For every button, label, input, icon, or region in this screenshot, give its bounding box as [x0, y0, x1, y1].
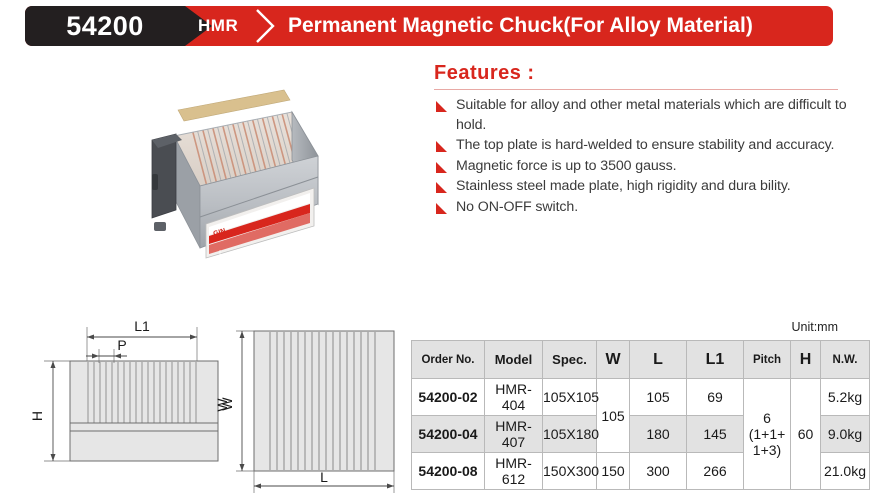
product-code-badge: 54200	[25, 6, 185, 46]
cell-nw: 5.2kg	[821, 379, 870, 416]
cell-l1: 266	[687, 453, 744, 490]
chevron-right-icon	[253, 6, 279, 46]
table-row: 54200-02 HMR-404 105X105 105 105 69 6 (1…	[412, 379, 870, 416]
cell-spec: 150X300	[543, 453, 597, 490]
triangle-bullet-icon	[435, 140, 448, 153]
th-order-no: Order No.	[412, 341, 485, 379]
product-photo: GIN PERMANENT MAGNETIC CHUCK	[132, 78, 324, 278]
spec-table-wrap: Order No. Model Spec. W L L1 Pitch H N.W…	[411, 340, 839, 490]
features-heading: Features :	[434, 62, 838, 90]
feature-item: Magnetic force is up to 3500 gauss.	[434, 157, 854, 177]
th-nw: N.W.	[821, 341, 870, 379]
feature-item: Stainless steel made plate, high rigidit…	[434, 177, 854, 197]
cell-l: 105	[630, 379, 687, 416]
feature-text: Suitable for alloy and other metal mater…	[456, 97, 847, 133]
page-title: Permanent Magnetic Chuck(For Alloy Mater…	[288, 14, 753, 38]
th-model: Model	[485, 341, 543, 379]
th-l: L	[630, 341, 687, 379]
feature-text: Magnetic force is up to 3500 gauss.	[456, 158, 676, 174]
th-w: W	[597, 341, 630, 379]
feature-item: The top plate is hard-welded to ensure s…	[434, 136, 854, 156]
feature-item: Suitable for alloy and other metal mater…	[434, 96, 854, 135]
feature-item: No ON-OFF switch.	[434, 198, 854, 218]
dim-l1-label: L1	[134, 318, 150, 334]
feature-text: No ON-OFF switch.	[456, 199, 578, 215]
dim-h-label: H	[29, 411, 45, 421]
cell-l1: 69	[687, 379, 744, 416]
cell-w: 150	[597, 453, 630, 490]
cell-spec: 105X105	[543, 379, 597, 416]
cell-nw: 21.0kg	[821, 453, 870, 490]
series-label-wrap: HMR	[198, 6, 238, 46]
th-spec: Spec.	[543, 341, 597, 379]
features-list: Suitable for alloy and other metal mater…	[434, 96, 854, 217]
unit-label: Unit:mm	[791, 320, 838, 334]
cell-model: HMR-407	[485, 416, 543, 453]
features-section: Features : Suitable for alloy and other …	[434, 62, 854, 218]
th-l1: L1	[687, 341, 744, 379]
triangle-bullet-icon	[435, 181, 448, 194]
table-header-row: Order No. Model Spec. W L L1 Pitch H N.W…	[412, 341, 870, 379]
th-h: H	[791, 341, 821, 379]
cell-w-merged: 105	[597, 379, 630, 453]
cell-nw: 9.0kg	[821, 416, 870, 453]
catalog-page: 54200 HMR Permanent Magnetic Chuck(For A…	[0, 0, 876, 499]
page-title-wrap: Permanent Magnetic Chuck(For Alloy Mater…	[288, 6, 753, 46]
cell-model: HMR-612	[485, 453, 543, 490]
cell-l: 180	[630, 416, 687, 453]
series-label: HMR	[198, 16, 238, 36]
dim-l-label: L	[320, 469, 328, 485]
pitch-line-2: (1+1+	[744, 426, 790, 442]
pitch-line-1: 6	[744, 410, 790, 426]
triangle-bullet-icon	[435, 100, 448, 113]
cell-order-no: 54200-02	[412, 379, 485, 416]
dim-p-label: P	[117, 337, 126, 353]
cell-spec: 105X180	[543, 416, 597, 453]
front-view-drawing: L1 P H W	[8, 313, 234, 499]
th-pitch: Pitch	[744, 341, 791, 379]
spec-table: Order No. Model Spec. W L L1 Pitch H N.W…	[411, 340, 870, 490]
pitch-line-3: 1+3)	[744, 442, 790, 458]
top-view-drawing: W L	[222, 313, 412, 499]
triangle-bullet-icon	[435, 161, 448, 174]
cell-model: HMR-404	[485, 379, 543, 416]
feature-text: The top plate is hard-welded to ensure s…	[456, 137, 834, 153]
triangle-bullet-icon	[435, 202, 448, 215]
cell-h-merged: 60	[791, 379, 821, 490]
cell-l1: 145	[687, 416, 744, 453]
cell-order-no: 54200-04	[412, 416, 485, 453]
cell-l: 300	[630, 453, 687, 490]
dim-w-label-top: W	[222, 397, 235, 411]
feature-text: Stainless steel made plate, high rigidit…	[456, 178, 791, 194]
cell-order-no: 54200-08	[412, 453, 485, 490]
product-code: 54200	[66, 13, 144, 40]
cell-pitch-merged: 6 (1+1+ 1+3)	[744, 379, 791, 490]
